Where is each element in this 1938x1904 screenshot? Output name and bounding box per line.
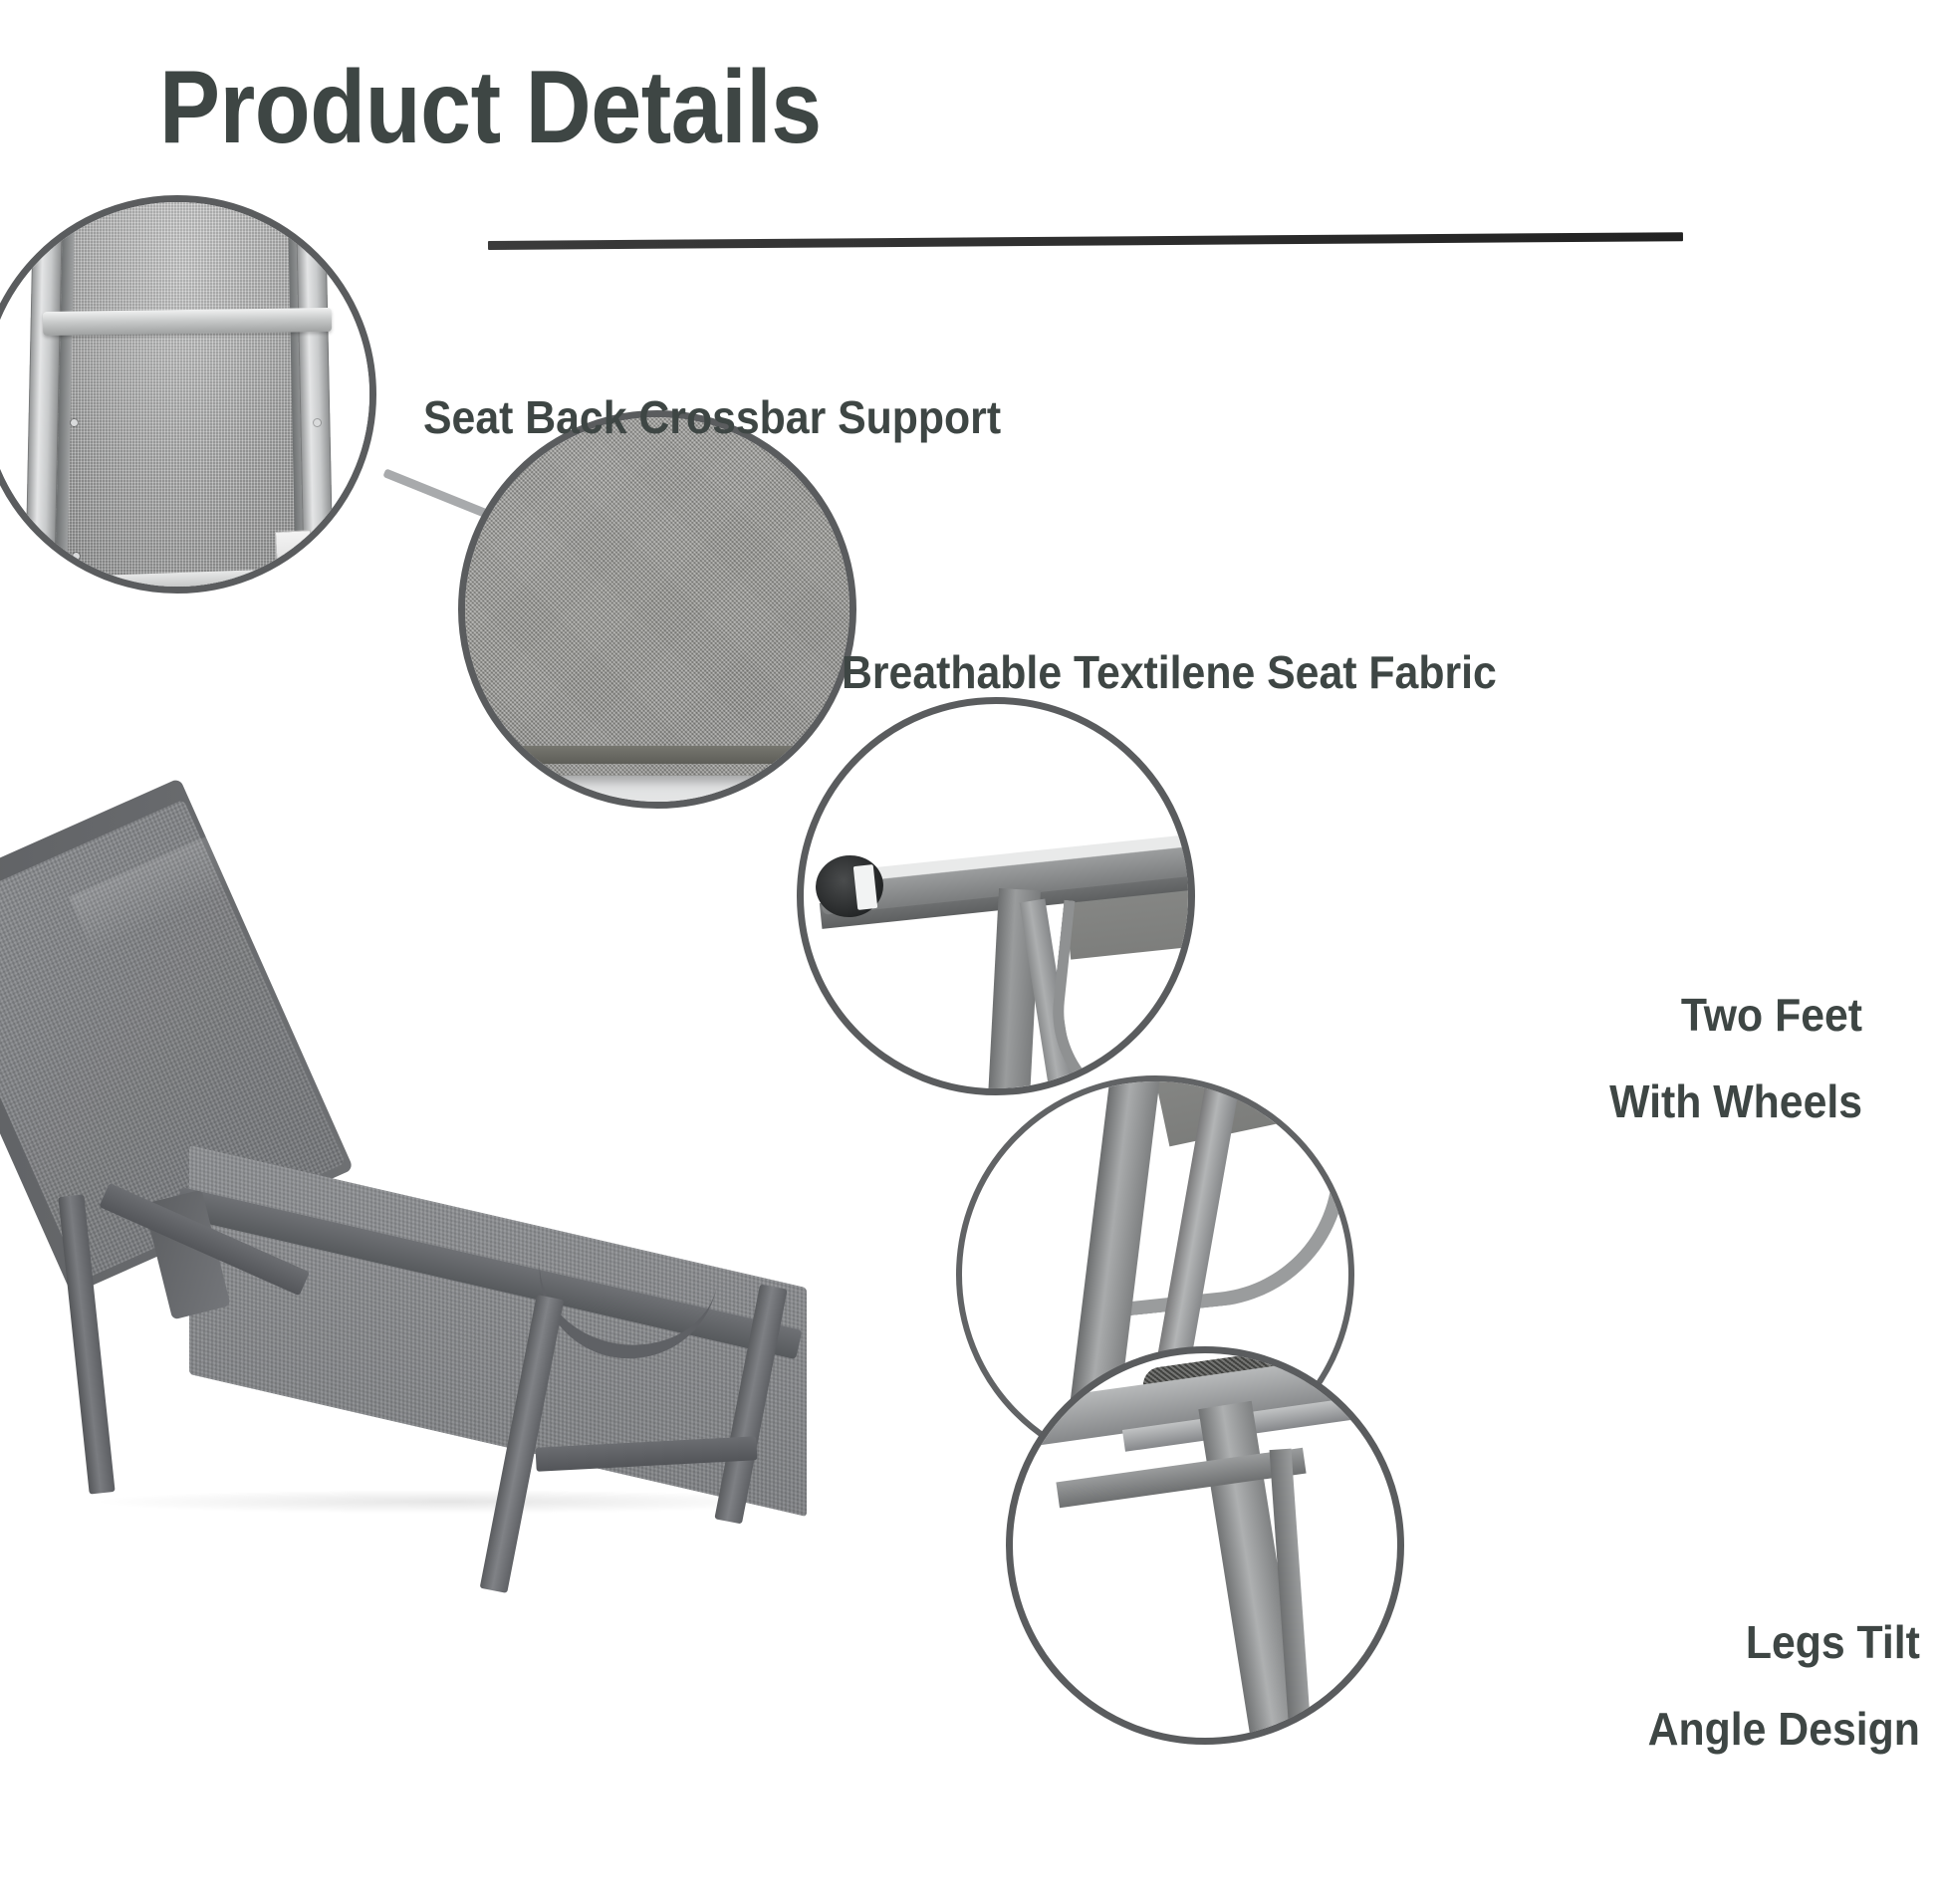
title-divider (488, 232, 1683, 250)
label-two-feet-with-wheels: Two Feet With Wheels (1609, 986, 1862, 1131)
crossbar-screw-left (71, 419, 78, 426)
callout-circle-seat-back-crossbar (0, 195, 376, 594)
product-shadow (100, 1490, 797, 1514)
textilene-fabric-edge (458, 746, 856, 764)
label-legs-tilt-angle-design: Legs Tilt Angle Design (1648, 1613, 1920, 1759)
seat-back-crossbar (43, 308, 332, 336)
page-title: Product Details (159, 54, 822, 162)
fabric-care-tag (275, 530, 313, 574)
label-two-feet-line-1: Two Feet (1609, 986, 1862, 1045)
tilt-cross-brace (1056, 1448, 1306, 1509)
label-two-feet-line-2: With Wheels (1609, 1072, 1862, 1131)
callout-circle-legs-tilt-angle (1006, 1346, 1404, 1745)
product-image-chaise-lounge (40, 896, 916, 1593)
textilene-fabric-surface (458, 410, 856, 776)
crossbar-screw-right (314, 419, 321, 426)
callout-circle-breathable-textilene (458, 410, 856, 809)
label-seat-back-crossbar-support: Seat Back Crossbar Support (423, 388, 1001, 447)
frame-screw-lower-left (73, 553, 80, 560)
label-legs-tilt-line-1: Legs Tilt (1648, 1613, 1920, 1672)
label-legs-tilt-line-2: Angle Design (1648, 1700, 1920, 1759)
infographic-canvas: Product Details (0, 0, 1938, 1904)
label-breathable-textilene-seat-fabric: Breathable Textilene Seat Fabric (842, 643, 1497, 702)
